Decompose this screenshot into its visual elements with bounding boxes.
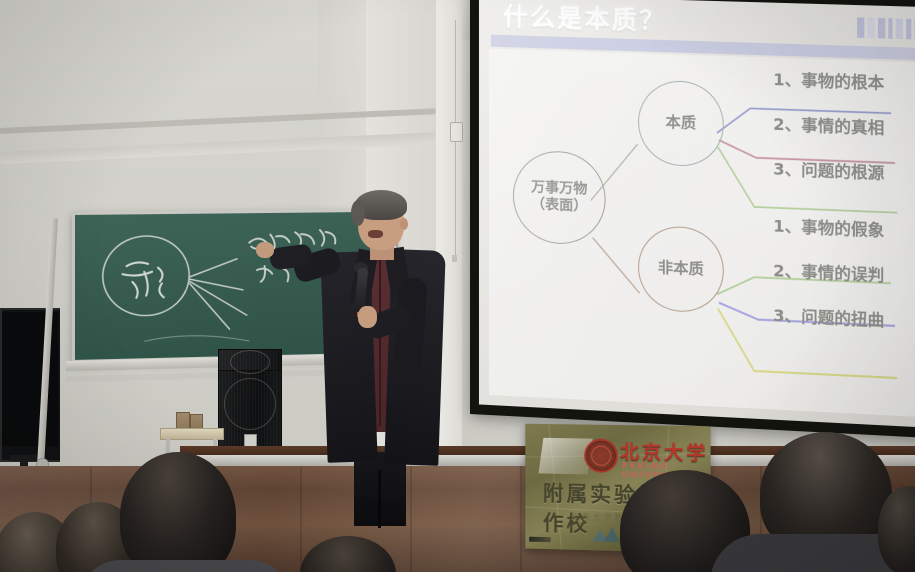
slide-non-essence-item-1: 1、事物的假象 xyxy=(773,212,884,241)
audience-head xyxy=(760,432,892,556)
slide-essence-item-3: 3、问题的根源 xyxy=(773,155,884,184)
slide-essence-item-1: 1、事物的根本 xyxy=(773,66,884,94)
slide-node-essence-label: 本质 xyxy=(666,114,697,133)
presenter xyxy=(318,190,448,520)
plaque-corner-tab xyxy=(529,537,551,543)
slide-header-decor-bars xyxy=(857,15,915,39)
speaker-woofer xyxy=(224,378,276,430)
projection-screen-surface: 什么是本质？ xyxy=(479,0,915,428)
slide-essence-item-2: 2、事情的真相 xyxy=(773,110,884,138)
presenter-shirt-placket xyxy=(379,256,381,426)
slide-non-essence-item-2: 2、事情的误判 xyxy=(773,257,884,286)
presenter-trouser-seam xyxy=(378,470,381,528)
slide-non-essence-item-3: 3、问题的扭曲 xyxy=(773,302,884,332)
audience-head xyxy=(120,452,236,572)
cord-tip xyxy=(452,255,457,262)
cord-switch-box[interactable] xyxy=(450,122,463,142)
projection-screen-frame: 什么是本质？ xyxy=(470,0,915,438)
slide-node-root-line2: （表面） xyxy=(531,196,587,215)
slide-body: 万事万物 （表面） 本质 非本质 1、事物的根本 2、事情的真相 3、问题的根源… xyxy=(489,49,915,417)
presenter-hand-right xyxy=(358,306,377,328)
slide-node-non-essence-label: 非本质 xyxy=(658,259,704,279)
presenter-hand-left xyxy=(256,242,274,258)
wall-column-shadow xyxy=(318,0,366,210)
speaker-tweeter xyxy=(230,350,270,374)
presenter-ear xyxy=(400,218,408,230)
presenter-mouth xyxy=(368,230,383,238)
slide-title: 什么是本质？ xyxy=(503,0,667,38)
presenter-hair-side xyxy=(351,200,365,226)
audience-shoulders xyxy=(80,560,290,572)
lecture-hall-photo: 什么是本质？ xyxy=(0,0,915,572)
peking-university-seal-icon xyxy=(584,438,618,473)
